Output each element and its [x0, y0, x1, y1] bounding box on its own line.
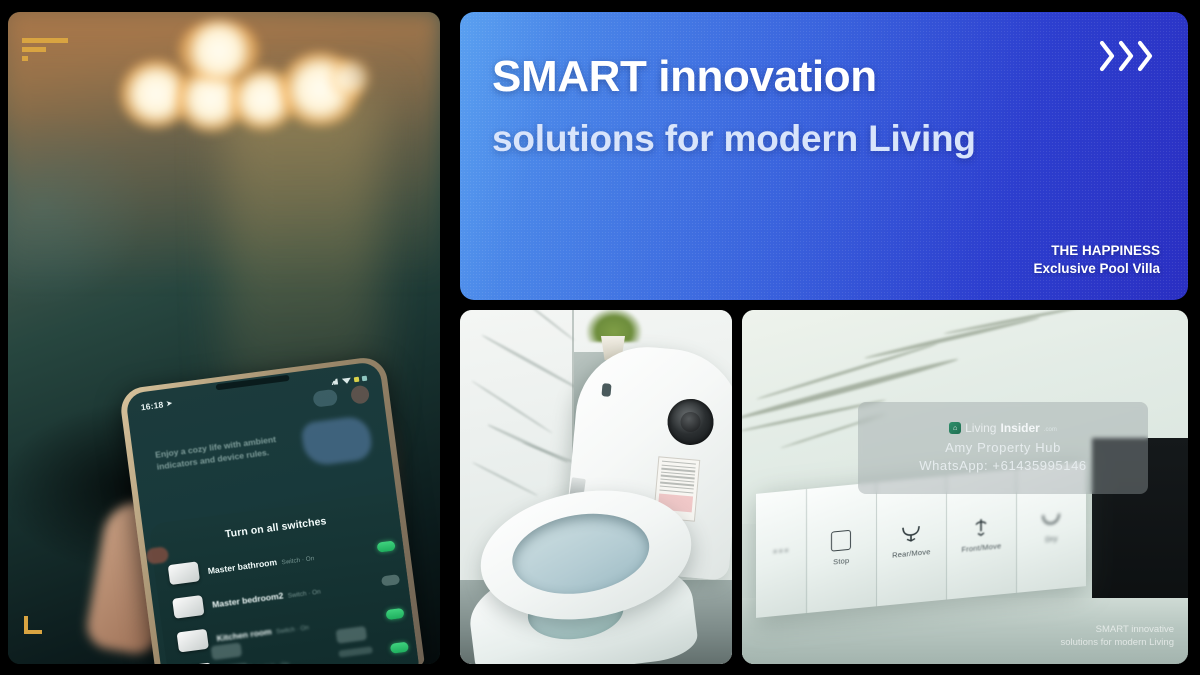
switch-label: Dry — [1045, 533, 1057, 543]
device-sheet: Turn on all switches Master bathroom Swi… — [148, 492, 419, 664]
phone-screen: 16:18 ➤ Enjoy a cozy life with ambient i… — [125, 361, 419, 664]
switch-button-rear-move[interactable]: Rear/Move — [877, 476, 947, 607]
status-dot-icon — [362, 375, 368, 381]
switch-device-icon — [168, 561, 200, 585]
brand-living: Living — [965, 421, 996, 435]
app-tagline: Enjoy a cozy life with ambient indicator… — [154, 429, 306, 473]
wifi-icon — [342, 376, 352, 384]
stop-square-icon — [831, 529, 851, 551]
switch-device-icon — [172, 595, 204, 619]
photo-panel-smart-home-app: 16:18 ➤ Enjoy a cozy life with ambient i… — [8, 12, 440, 664]
device-toggle[interactable] — [381, 574, 400, 586]
status-right — [331, 374, 368, 386]
chevron-right-icon — [1118, 40, 1135, 72]
nav-item[interactable] — [336, 625, 373, 657]
hero-banner-card: SMART innovation solutions for modern Li… — [460, 12, 1188, 300]
dryer-icon — [1040, 511, 1062, 529]
device-name: Master bathroom — [207, 557, 277, 576]
toilet-seat-opening — [506, 504, 655, 603]
profile-avatar[interactable] — [350, 385, 370, 405]
switch-button-extra[interactable]: ⋯ — [756, 489, 807, 618]
switch-label: Stop — [833, 555, 849, 566]
contact-whatsapp: WhatsApp: +61435995146 — [919, 457, 1087, 475]
caption-line-2: solutions for modern Living — [1060, 637, 1174, 650]
battery-icon — [354, 376, 360, 382]
chevron-right-icon — [1099, 40, 1116, 72]
device-status: Switch · On — [281, 555, 315, 566]
nav-label — [338, 646, 373, 657]
chevron-right-icon — [1137, 40, 1154, 72]
status-left: 16:18 ➤ — [140, 398, 173, 412]
switch-button-stop[interactable]: Stop — [807, 482, 877, 613]
blank-icon: ⋯ — [772, 541, 789, 560]
villa-brand: THE HAPPINESS Exclusive Pool Villa — [1033, 242, 1160, 278]
collage-stage: 16:18 ➤ Enjoy a cozy life with ambient i… — [0, 0, 1200, 675]
brand-name: THE HAPPINESS — [1033, 242, 1160, 260]
brand-tagline: Exclusive Pool Villa — [1033, 260, 1160, 278]
switch-label: Rear/Move — [892, 547, 930, 560]
bokeh-light — [330, 58, 370, 98]
watermark-logo: ⌂ Living Insider .com — [949, 421, 1057, 435]
nav-item[interactable] — [211, 642, 248, 664]
gold-corner-bracket-bottom-left — [24, 616, 42, 634]
rear-wash-icon — [899, 523, 923, 543]
switch-label: Front/Move — [961, 541, 1001, 554]
gold-ornament-top-left — [22, 38, 68, 65]
chevrons-right-icon — [1099, 40, 1154, 72]
seller-name: Amy Property Hub — [945, 439, 1061, 457]
brand-tld: .com — [1044, 427, 1057, 433]
panel-caption: SMART innovative solutions for modern Li… — [1060, 624, 1174, 650]
nav-label — [213, 663, 248, 664]
device-toggle[interactable] — [377, 540, 396, 552]
status-time: 16:18 — [140, 399, 164, 412]
device-status: Switch · On — [287, 589, 321, 600]
page-subtitle: solutions for modern Living — [492, 118, 976, 160]
hero-illustration — [300, 415, 373, 467]
signal-icon — [331, 378, 340, 385]
nav-icon — [211, 642, 243, 660]
lid-sensor-icon — [601, 383, 611, 397]
photo-panel-wall-switches: ⋯ Stop Rear/Move — [742, 310, 1188, 664]
caption-line-1: SMART innovative — [1060, 624, 1174, 637]
smartphone-device: 16:18 ➤ Enjoy a cozy life with ambient i… — [118, 355, 424, 664]
nav-icon — [336, 626, 368, 644]
front-wash-icon — [971, 516, 991, 538]
page-title: SMART innovation — [492, 52, 877, 102]
bidet-nozzle-icon — [666, 397, 716, 447]
brand-insider: Insider — [1000, 421, 1039, 435]
watermark-overlay: ⌂ Living Insider .com Amy Property Hub W… — [858, 402, 1148, 494]
house-icon: ⌂ — [949, 422, 961, 434]
device-name: Master bedroom2 — [212, 590, 284, 609]
header-pill-button[interactable] — [312, 389, 338, 408]
location-arrow-icon: ➤ — [166, 399, 173, 408]
photo-panel-smart-toilet — [460, 310, 732, 664]
